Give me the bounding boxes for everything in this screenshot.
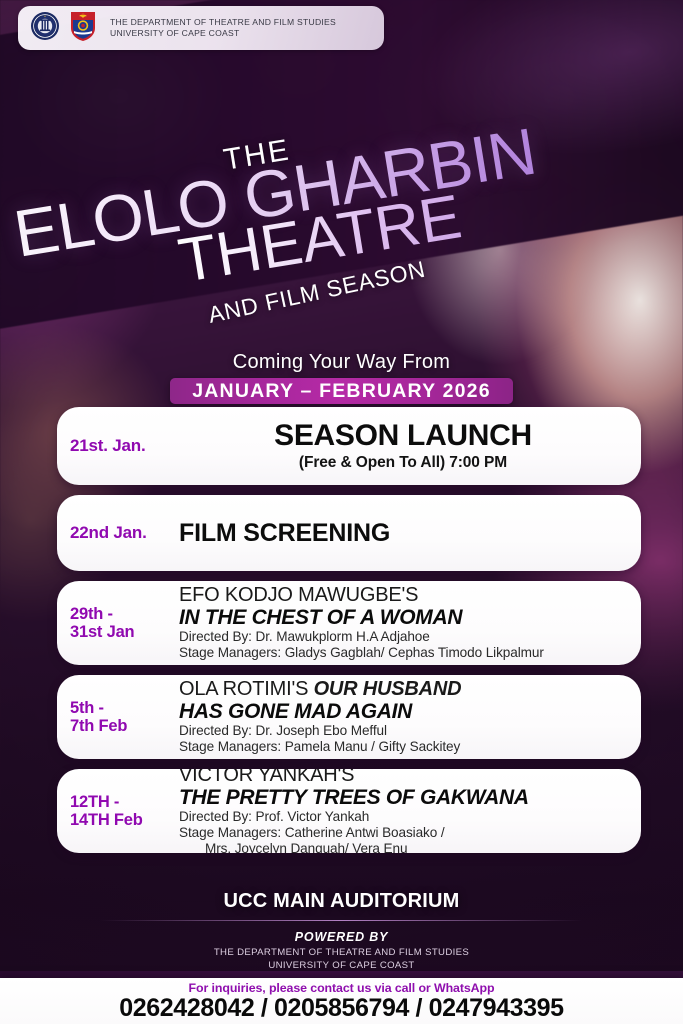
event-date-line1: 22nd Jan. bbox=[70, 523, 147, 542]
event-card-our-husband-has-gone-mad-again[interactable]: 5th - 7th Feb OLA ROTIMI'S OUR HUSBAND H… bbox=[57, 675, 641, 759]
event-playwright: VICTOR YANKAH'S bbox=[179, 769, 633, 787]
coming-soon-label: Coming Your Way From bbox=[0, 351, 683, 374]
event-date-line1: 29th - bbox=[70, 605, 113, 623]
event-body: OLA ROTIMI'S OUR HUSBAND HAS GONE MAD AG… bbox=[179, 678, 641, 755]
event-card-season-launch[interactable]: 21st. Jan. SEASON LAUNCH (Free & Open To… bbox=[57, 407, 641, 485]
event-stage-managers: Stage Managers: Catherine Antwi Boasiako… bbox=[179, 825, 633, 841]
venue-label: UCC MAIN AUDITORIUM bbox=[0, 890, 683, 913]
season-period-text: JANUARY – FEBRUARY 2026 bbox=[192, 380, 491, 403]
event-playwright-row: OLA ROTIMI'S OUR HUSBAND bbox=[179, 679, 633, 700]
event-date-line2: 7th Feb bbox=[70, 717, 179, 735]
event-stage-managers-cont: Mrs. Joycelyn Danquah/ Vera Enu bbox=[179, 841, 633, 853]
event-title: SEASON LAUNCH bbox=[179, 420, 627, 451]
event-card-the-pretty-trees-of-gakwana[interactable]: 12TH - 14TH Feb VICTOR YANKAH'S THE PRET… bbox=[57, 769, 641, 853]
event-date-line2: 14TH Feb bbox=[70, 811, 179, 829]
header-line-1: THE DEPARTMENT OF THEATRE AND FILM STUDI… bbox=[110, 17, 336, 28]
event-director: Directed By: Prof. Victor Yankah bbox=[179, 809, 633, 825]
event-body: FILM SCREENING bbox=[179, 519, 641, 548]
header-bar: THE DEPARTMENT OF THEATRE AND FILM STUDI… bbox=[18, 6, 384, 50]
event-date-line1: 5th - bbox=[70, 699, 104, 717]
event-card-in-the-chest-of-a-woman[interactable]: 29th - 31st Jan EFO KODJO MAWUGBE'S IN T… bbox=[57, 581, 641, 665]
powered-by-org: THE DEPARTMENT OF THEATRE AND FILM STUDI… bbox=[0, 947, 683, 973]
event-subtitle: (Free & Open To All) 7:00 PM bbox=[179, 454, 627, 472]
event-date-line1: 12TH - bbox=[70, 793, 119, 811]
header-line-2: UNIVERSITY OF CAPE COAST bbox=[110, 28, 336, 39]
contact-strip-top-edge bbox=[0, 971, 683, 978]
event-body: SEASON LAUNCH (Free & Open To All) 7:00 … bbox=[179, 420, 641, 471]
event-play-title: IN THE CHEST OF A WOMAN bbox=[179, 607, 633, 629]
event-list: 21st. Jan. SEASON LAUNCH (Free & Open To… bbox=[57, 407, 641, 863]
event-date: 22nd Jan. bbox=[57, 523, 179, 542]
event-date: 12TH - 14TH Feb bbox=[57, 793, 179, 830]
contact-numbers[interactable]: 0262428042 / 0205856794 / 0247943395 bbox=[0, 995, 683, 1021]
contact-strip: For inquiries, please contact us via cal… bbox=[0, 978, 683, 1024]
event-date: 21st. Jan. bbox=[57, 436, 179, 455]
event-title: FILM SCREENING bbox=[179, 519, 633, 548]
event-date-line2: 31st Jan bbox=[70, 623, 179, 641]
event-body: VICTOR YANKAH'S THE PRETTY TREES OF GAKW… bbox=[179, 769, 641, 853]
event-playwright: OLA ROTIMI'S bbox=[179, 678, 314, 700]
event-playwright: EFO KODJO MAWUGBE'S bbox=[179, 585, 633, 606]
event-poster: THE DEPARTMENT OF THEATRE AND FILM STUDI… bbox=[0, 0, 683, 1024]
event-date: 29th - 31st Jan bbox=[57, 605, 179, 642]
event-director: Directed By: Dr. Mawukplorm H.A Adjahoe bbox=[179, 629, 633, 645]
header-department-text: THE DEPARTMENT OF THEATRE AND FILM STUDI… bbox=[110, 17, 336, 40]
event-director: Directed By: Dr. Joseph Ebo Mefful bbox=[179, 723, 633, 739]
event-stage-managers: Stage Managers: Pamela Manu / Gifty Sack… bbox=[179, 739, 633, 755]
event-card-film-screening[interactable]: 22nd Jan. FILM SCREENING bbox=[57, 495, 641, 571]
powered-by-line-1: THE DEPARTMENT OF THEATRE AND FILM STUDI… bbox=[0, 947, 683, 960]
powered-by-label: POWERED BY bbox=[0, 930, 683, 944]
ucc-crest-logo bbox=[68, 9, 98, 47]
season-period-badge: JANUARY – FEBRUARY 2026 bbox=[170, 378, 513, 404]
event-body: EFO KODJO MAWUGBE'S IN THE CHEST OF A WO… bbox=[179, 584, 641, 661]
footer-divider bbox=[100, 920, 583, 921]
event-play-title: THE PRETTY TREES OF GAKWANA bbox=[179, 787, 633, 809]
event-play-title-part1: OUR HUSBAND bbox=[314, 678, 462, 700]
dtfs-seal-logo bbox=[30, 11, 60, 46]
event-date: 5th - 7th Feb bbox=[57, 699, 179, 736]
contact-prompt: For inquiries, please contact us via cal… bbox=[0, 978, 683, 995]
event-stage-managers: Stage Managers: Gladys Gagblah/ Cephas T… bbox=[179, 645, 633, 661]
event-date-line1: 21st. Jan. bbox=[70, 436, 146, 455]
event-play-title-part2: HAS GONE MAD AGAIN bbox=[179, 701, 633, 723]
